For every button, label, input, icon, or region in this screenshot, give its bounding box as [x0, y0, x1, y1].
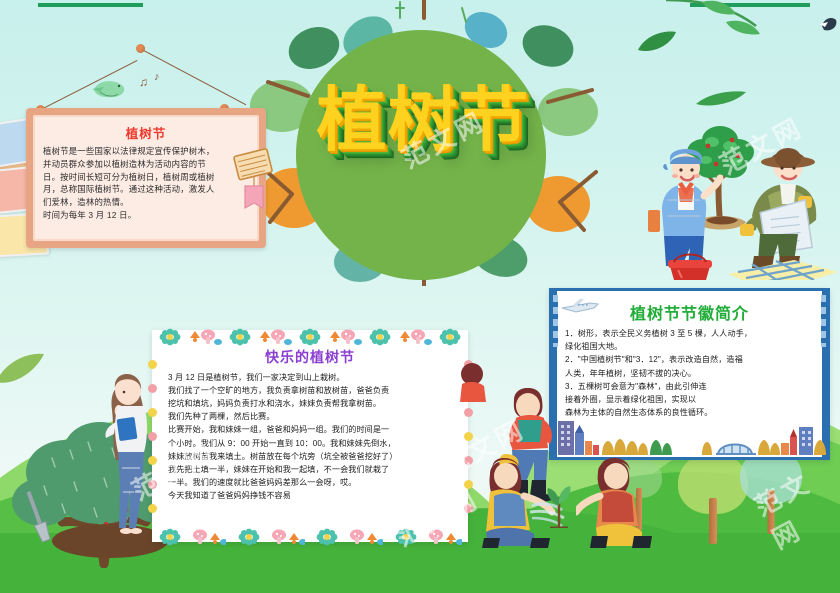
mid-panel-line: 个小时。我们从 9：00 开始一直到 10：00。我和妹妹先倒水， [168, 437, 455, 450]
mid-panel-line: 一半。我们的速度就比爸爸妈妈差那么一会呀，哎。 [168, 476, 455, 489]
flower-icon [158, 528, 182, 546]
bird-icon [88, 76, 130, 100]
music-note-icon: ♪ [154, 72, 160, 83]
flower-icon [368, 328, 392, 346]
flower-mushroom-border-top [158, 328, 462, 346]
hanging-tag-icon [232, 148, 276, 218]
left-panel-inner: 植树节 植树节是一些国家以法律规定宣传保护树木， 并动员群众参加以植树造林为活动… [33, 115, 259, 241]
mid-panel-line: 妹妹放树苗我来填土。树苗放在每个坑旁（坑全被爸爸挖好了） [168, 450, 455, 463]
mushroom-group-icon [192, 528, 226, 546]
flower-icon [298, 328, 322, 346]
right-panel-line: 接着外圈，显示着绿化祖国，实现以 [565, 393, 818, 406]
mid-panel-line: 挖坑和填坑，妈妈负责打水和浇水，妹妹负责帮我拿树苗。 [168, 397, 455, 410]
left-panel-line: 时间为每年 3 月 12 日。 [43, 209, 249, 222]
mid-panel-line: 我们先种了两棵，然后比赛。 [168, 410, 455, 423]
leaf-icon [0, 352, 46, 388]
flower-icon [438, 328, 462, 346]
flower-icon [315, 528, 339, 546]
mid-panel-line: 今天我知道了爸爸妈妈挣钱不容易 [168, 489, 455, 502]
left-info-panel: 植树节 植树节是一些国家以法律规定宣传保护树木， 并动员群众参加以植树造林为活动… [26, 108, 266, 248]
mid-panel-line: 我先把土填一半，妹妹在开始和我一起填，不一会我们就栽了 [168, 463, 455, 476]
flower-mushroom-border-bottom [158, 528, 462, 546]
left-panel-line: 植树节是一些国家以法律规定宣传保护树木， [43, 145, 249, 158]
left-panel-line: 们爱林，造林的热情。 [43, 196, 249, 209]
leaf-icon [636, 28, 678, 54]
poster-canvas: 植树节 ♫ ♪ 植树节 植树节是一些国家以法律规定宣传保护树木， 并动员群众参加… [0, 0, 840, 593]
mid-story-panel: 快乐的植树节 3 月 12 日是植树节，我们一家决定到山上栽树。 我们找了一个空… [152, 330, 468, 542]
kneeling-boy-illustration [576, 450, 660, 552]
flower-icon [394, 528, 418, 546]
left-panel-line: 月，总称国际植树节。通过这种活动，激发人 [43, 183, 249, 196]
right-panel-line: 1．树形，表示全民义务植树 3 至 5 棵，人人动手， [565, 327, 818, 340]
mid-panel-body: 3 月 12 日是植树节，我们一家决定到山上栽树。 我们找了一个空旷的地方，我负… [152, 371, 468, 502]
flower-icon [237, 528, 261, 546]
mushroom-group-icon [271, 528, 305, 546]
mushroom-group-icon [428, 528, 462, 546]
mushroom-group-icon [188, 328, 222, 346]
seedling-icon [542, 484, 576, 528]
right-panel-line: 人类，年年植树，坚韧不拔的决心。 [565, 367, 818, 380]
flower-icon [158, 328, 182, 346]
mushroom-group-icon [398, 328, 432, 346]
leaf-icon [694, 88, 748, 108]
mushroom-group-icon [328, 328, 362, 346]
mid-panel-line: 我们找了一个空旷的地方，我负责拿树苗和放树苗，爸爸负责 [168, 384, 455, 397]
left-panel-heading: 植树节 [43, 123, 249, 142]
right-panel-line: 绿化祖国大地。 [565, 340, 818, 353]
mid-panel-heading: 快乐的植树节 [152, 347, 468, 367]
small-figure-icon [456, 362, 486, 402]
page-title: 植树节 [248, 64, 598, 165]
background-tree [678, 452, 748, 544]
mid-panel-line: 3 月 12 日是植树节，我们一家决定到山上栽树。 [168, 371, 455, 384]
top-rule-left [38, 3, 143, 7]
hero-title-block: 植树节 [248, 0, 598, 286]
tick-column-left [553, 295, 558, 347]
music-note-icon: ♫ [139, 76, 148, 88]
dot-column-left [147, 352, 157, 520]
background-tree [740, 448, 802, 534]
right-panel-line: 森林为主体的自然生态体系的良性循环。 [565, 406, 818, 419]
pin-dot [136, 44, 145, 53]
right-panel-line: 2．"中国植树节"和"3．12"，表示改造自然，造福 [565, 353, 818, 366]
left-panel-line: 日。按时间长短可分为植树日，植树周或植树 [43, 171, 249, 184]
man-and-boy-planting-illustration [648, 84, 840, 280]
mushroom-group-icon [349, 528, 383, 546]
tick-column-right [821, 295, 826, 347]
right-panel-line: 3．五棵树可会意为"森林"，由此引伸连 [565, 380, 818, 393]
flying-bird-icon [818, 12, 838, 34]
flower-icon [228, 328, 252, 346]
left-panel-line: 并动员群众参加以植树造林为活动内容的节 [43, 158, 249, 171]
mid-panel-line: 比赛开始，我和妹妹一组，爸爸和妈妈一组。我们的时间是一 [168, 423, 455, 436]
airplane-icon [560, 297, 600, 315]
right-info-panel: 植树节节徽简介 1．树形，表示全民义务植树 3 至 5 棵，人人动手， 绿化祖国… [549, 288, 830, 460]
right-panel-body: 1．树形，表示全民义务植树 3 至 5 棵，人人动手， 绿化祖国大地。 2．"中… [552, 327, 827, 419]
mushroom-group-icon [258, 328, 292, 346]
